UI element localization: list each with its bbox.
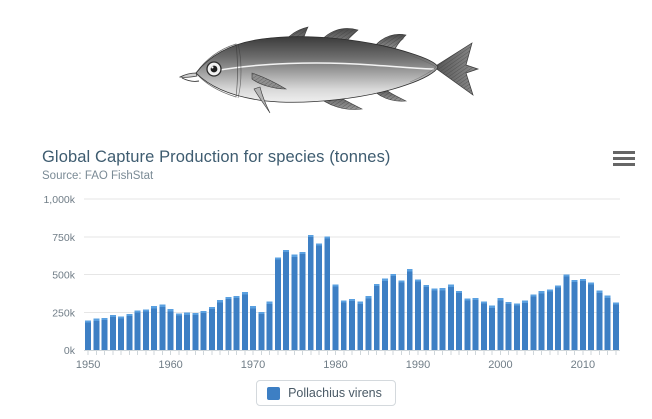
bar[interactable] — [572, 280, 578, 350]
bar-top-highlight — [143, 310, 149, 312]
bar[interactable] — [143, 310, 149, 350]
bar-top-highlight — [572, 280, 578, 282]
bar-top-highlight — [291, 255, 297, 257]
bar-top-highlight — [415, 279, 421, 281]
bar[interactable] — [431, 288, 437, 350]
bar-top-highlight — [267, 302, 273, 304]
bar-top-highlight — [456, 291, 462, 293]
bar[interactable] — [267, 302, 273, 350]
bar[interactable] — [390, 274, 396, 350]
bar[interactable] — [555, 285, 561, 350]
bar[interactable] — [481, 301, 487, 350]
legend-color-swatch — [267, 387, 280, 400]
bar-top-highlight — [176, 313, 182, 315]
bar-top-highlight — [118, 316, 124, 318]
bar[interactable] — [333, 284, 339, 350]
bar[interactable] — [234, 296, 240, 350]
bar[interactable] — [407, 269, 413, 350]
bar[interactable] — [283, 250, 289, 350]
y-axis-tick-label: 0k — [64, 345, 76, 357]
bar-top-highlight — [324, 236, 330, 238]
x-axis-tick-label: 1950 — [76, 359, 100, 371]
bar-top-highlight — [399, 280, 405, 282]
bar[interactable] — [522, 301, 528, 350]
bar[interactable] — [324, 236, 330, 350]
bar[interactable] — [473, 298, 479, 350]
bar-top-highlight — [605, 296, 611, 298]
pollachius-virens-fish-illustration — [166, 7, 486, 127]
bar-top-highlight — [464, 298, 470, 300]
bar[interactable] — [506, 302, 512, 350]
bar-top-highlight — [93, 319, 99, 321]
bar[interactable] — [201, 311, 207, 350]
bar-top-highlight — [497, 298, 503, 300]
bar[interactable] — [126, 314, 132, 350]
bar[interactable] — [217, 300, 223, 350]
legend-item-label: Pollachius virens — [288, 386, 382, 400]
bar[interactable] — [514, 303, 520, 350]
bar[interactable] — [168, 309, 174, 350]
bar[interactable] — [159, 305, 165, 350]
bar[interactable] — [497, 298, 503, 350]
bar[interactable] — [316, 243, 322, 350]
bar[interactable] — [209, 307, 215, 350]
bar-top-highlight — [300, 252, 306, 254]
bar-top-highlight — [382, 279, 388, 281]
bar-top-highlight — [242, 292, 248, 294]
bar[interactable] — [85, 320, 91, 350]
bar[interactable] — [102, 318, 108, 350]
x-axis-tick-label: 1960 — [158, 359, 182, 371]
bar-top-highlight — [151, 306, 157, 308]
screenshot-root: Global Capture Production for species (t… — [0, 0, 652, 419]
fish-illustration-band — [0, 0, 652, 134]
x-axis-tick-label: 2010 — [571, 359, 595, 371]
bar-top-highlight — [126, 314, 132, 316]
y-axis-labels: 0k250k500k750k1,000k — [43, 194, 75, 357]
bar-top-highlight — [110, 315, 116, 317]
bar-top-highlight — [555, 285, 561, 287]
bar-top-highlight — [390, 274, 396, 276]
bar-top-highlight — [209, 307, 215, 309]
bar-chart-svg: 0k250k500k750k1,000k 1950196019701980199… — [0, 134, 652, 384]
bar-top-highlight — [530, 294, 536, 296]
x-axis-labels: 1950196019701980199020002010 — [76, 359, 595, 371]
bar-top-highlight — [184, 313, 190, 315]
bar-top-highlight — [357, 302, 363, 304]
bars — [85, 235, 619, 350]
bar-top-highlight — [547, 289, 553, 291]
chart-legend: Pollachius virens — [0, 380, 652, 406]
bar[interactable] — [613, 302, 619, 350]
bar-top-highlight — [588, 282, 594, 284]
bar-top-highlight — [431, 288, 437, 290]
bar[interactable] — [366, 296, 372, 350]
bar[interactable] — [530, 294, 536, 350]
bar[interactable] — [423, 285, 429, 350]
bar[interactable] — [357, 302, 363, 350]
bar-top-highlight — [192, 313, 198, 315]
bar-top-highlight — [275, 257, 281, 259]
bar[interactable] — [588, 282, 594, 350]
bar-top-highlight — [366, 296, 372, 298]
x-axis-tick-label: 1990 — [406, 359, 430, 371]
bar-top-highlight — [423, 285, 429, 287]
bar[interactable] — [308, 235, 314, 350]
chart-card: Global Capture Production for species (t… — [0, 134, 652, 419]
bar-top-highlight — [448, 285, 454, 287]
y-axis-tick-label: 1,000k — [43, 194, 75, 206]
bar[interactable] — [349, 299, 355, 350]
bar[interactable] — [300, 252, 306, 350]
bar[interactable] — [225, 297, 231, 350]
bar[interactable] — [258, 312, 264, 350]
bar[interactable] — [374, 284, 380, 350]
y-axis-tick-label: 750k — [52, 232, 76, 244]
bar-top-highlight — [473, 298, 479, 300]
bar-top-highlight — [580, 279, 586, 281]
bar[interactable] — [440, 288, 446, 350]
bar[interactable] — [489, 306, 495, 350]
bar-top-highlight — [481, 301, 487, 303]
bar-top-highlight — [283, 250, 289, 252]
bar-top-highlight — [201, 311, 207, 313]
bar-top-highlight — [316, 243, 322, 245]
bar[interactable] — [464, 298, 470, 350]
bar[interactable] — [448, 285, 454, 350]
bar[interactable] — [399, 280, 405, 350]
bar[interactable] — [118, 316, 124, 350]
legend-item-pollachius-virens[interactable]: Pollachius virens — [256, 380, 396, 406]
bar-top-highlight — [489, 306, 495, 308]
bar-top-highlight — [159, 305, 165, 307]
bar-top-highlight — [102, 318, 108, 320]
bar[interactable] — [93, 319, 99, 350]
bar[interactable] — [184, 313, 190, 350]
bar-top-highlight — [168, 309, 174, 311]
x-axis-tick-label: 1980 — [323, 359, 347, 371]
bar-top-highlight — [522, 301, 528, 303]
bar[interactable] — [192, 313, 198, 350]
bar-top-highlight — [440, 288, 446, 290]
bar[interactable] — [176, 313, 182, 350]
bar-top-highlight — [258, 312, 264, 314]
bar-top-highlight — [341, 300, 347, 302]
bar[interactable] — [605, 296, 611, 350]
bar[interactable] — [547, 289, 553, 350]
bar[interactable] — [275, 257, 281, 350]
bar[interactable] — [110, 315, 116, 350]
bar[interactable] — [291, 255, 297, 350]
bar[interactable] — [415, 279, 421, 350]
bar-top-highlight — [333, 284, 339, 286]
bar-top-highlight — [308, 235, 314, 237]
bar-top-highlight — [514, 303, 520, 305]
bar-top-highlight — [225, 297, 231, 299]
bar-top-highlight — [217, 300, 223, 302]
bar[interactable] — [242, 292, 248, 350]
x-axis-tick-label: 2000 — [488, 359, 512, 371]
y-axis-tick-label: 250k — [52, 307, 76, 319]
bar-top-highlight — [613, 302, 619, 304]
x-axis-tick-label: 1970 — [241, 359, 265, 371]
bar-top-highlight — [539, 291, 545, 293]
bar-top-highlight — [596, 291, 602, 293]
bar-top-highlight — [85, 320, 91, 322]
bar[interactable] — [456, 291, 462, 350]
bar[interactable] — [563, 275, 569, 351]
bar-top-highlight — [374, 284, 380, 286]
bar[interactable] — [151, 306, 157, 350]
x-axis — [84, 351, 620, 356]
bar[interactable] — [135, 310, 141, 350]
bar[interactable] — [341, 300, 347, 350]
bar-top-highlight — [135, 310, 141, 312]
bar[interactable] — [596, 291, 602, 350]
y-axis-tick-label: 500k — [52, 270, 76, 282]
bar[interactable] — [580, 279, 586, 350]
bar-top-highlight — [563, 275, 569, 277]
bar-top-highlight — [506, 302, 512, 304]
bar-top-highlight — [349, 299, 355, 301]
bar[interactable] — [250, 306, 256, 350]
bar-top-highlight — [234, 296, 240, 298]
bar-top-highlight — [407, 269, 413, 271]
chart-plot-area: 0k250k500k750k1,000k 1950196019701980199… — [0, 134, 652, 384]
bar-top-highlight — [250, 306, 256, 308]
bar[interactable] — [382, 279, 388, 350]
bar[interactable] — [539, 291, 545, 350]
